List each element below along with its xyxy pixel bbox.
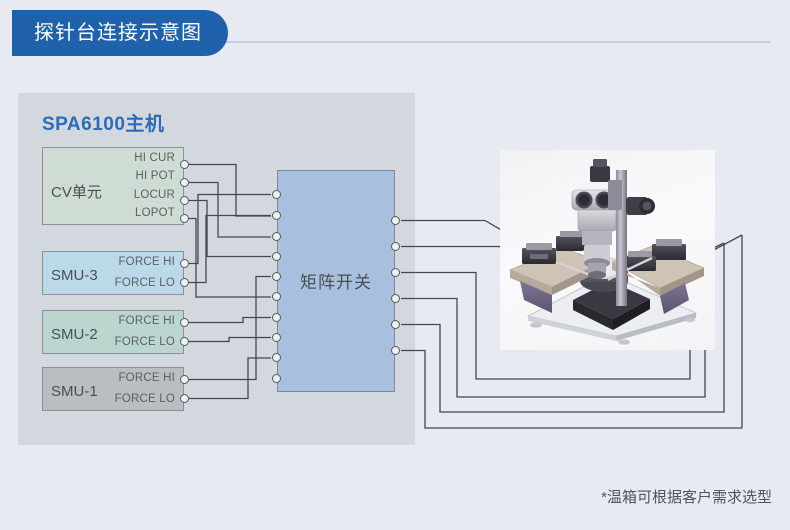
matrix-left-port-2[interactable] <box>272 211 281 220</box>
block-smu-1-ports: FORCE HI FORCE LO <box>115 368 175 410</box>
matrix-right-port-1[interactable] <box>391 216 400 225</box>
panel-title: SPA6100主机 <box>42 109 164 136</box>
matrix-left-port-10[interactable] <box>272 374 281 383</box>
diagram-root: 探针台连接示意图 SPA6100主机 CV单元 HI CUR HI POT LO… <box>0 0 790 530</box>
title-banner: 探针台连接示意图 <box>12 10 228 56</box>
port-dot-cv-locur[interactable] <box>180 196 189 205</box>
port-dot-smu2-force-lo[interactable] <box>180 337 189 346</box>
port-dot-smu3-force-hi[interactable] <box>180 259 189 268</box>
banner-underline <box>200 41 770 43</box>
port-label-hi-cur: HI CUR <box>134 153 175 165</box>
matrix-left-port-7[interactable] <box>272 313 281 322</box>
block-cv-unit-label: CV单元 <box>51 181 102 202</box>
matrix-left-port-4[interactable] <box>272 252 281 261</box>
block-smu-1[interactable]: SMU-1 FORCE HI FORCE LO <box>42 367 184 411</box>
matrix-left-port-5[interactable] <box>272 272 281 281</box>
port-label-smu3-force-hi: FORCE HI <box>118 257 175 269</box>
matrix-right-port-2[interactable] <box>391 242 400 251</box>
block-smu-2-label: SMU-2 <box>51 326 98 343</box>
matrix-right-port-4[interactable] <box>391 294 400 303</box>
port-label-smu2-force-lo: FORCE LO <box>115 337 175 349</box>
block-smu-2-ports: FORCE HI FORCE LO <box>115 311 175 353</box>
matrix-switch-label: 矩阵开关 <box>277 268 395 293</box>
port-dot-cv-hi-cur[interactable] <box>180 160 189 169</box>
port-dot-smu2-force-hi[interactable] <box>180 318 189 327</box>
block-smu-3-ports: FORCE HI FORCE LO <box>115 252 175 294</box>
port-label-smu1-force-lo: FORCE LO <box>115 394 175 406</box>
port-dot-smu1-force-hi[interactable] <box>180 375 189 384</box>
probe-station-photo <box>500 150 715 350</box>
port-label-smu3-force-lo: FORCE LO <box>115 278 175 290</box>
banner-title: 探针台连接示意图 <box>34 23 202 43</box>
block-smu-3[interactable]: SMU-3 FORCE HI FORCE LO <box>42 251 184 295</box>
port-dot-cv-hi-pot[interactable] <box>180 178 189 187</box>
block-cv-unit[interactable]: CV单元 HI CUR HI POT LOCUR LOPOT <box>42 147 184 225</box>
matrix-right-port-6[interactable] <box>391 346 400 355</box>
probe-station-illustration <box>500 150 715 350</box>
matrix-left-port-8[interactable] <box>272 333 281 342</box>
matrix-left-port-3[interactable] <box>272 232 281 241</box>
matrix-right-port-3[interactable] <box>391 268 400 277</box>
port-label-lopot: LOPOT <box>135 208 175 220</box>
port-label-smu2-force-hi: FORCE HI <box>118 316 175 328</box>
port-dot-cv-lopot[interactable] <box>180 214 189 223</box>
block-smu-3-label: SMU-3 <box>51 267 98 284</box>
block-cv-unit-ports: HI CUR HI POT LOCUR LOPOT <box>134 148 175 224</box>
port-label-hi-pot: HI POT <box>135 171 175 183</box>
block-smu-2[interactable]: SMU-2 FORCE HI FORCE LO <box>42 310 184 354</box>
footnote-text: *温箱可根据客户需求选型 <box>601 486 772 507</box>
matrix-left-port-6[interactable] <box>272 292 281 301</box>
port-label-locur: LOCUR <box>134 190 175 202</box>
block-smu-1-label: SMU-1 <box>51 383 98 400</box>
port-label-smu1-force-hi: FORCE HI <box>118 373 175 385</box>
matrix-left-port-9[interactable] <box>272 353 281 362</box>
port-dot-smu1-force-lo[interactable] <box>180 394 189 403</box>
port-dot-smu3-force-lo[interactable] <box>180 278 189 287</box>
matrix-left-port-1[interactable] <box>272 190 281 199</box>
matrix-right-port-5[interactable] <box>391 320 400 329</box>
